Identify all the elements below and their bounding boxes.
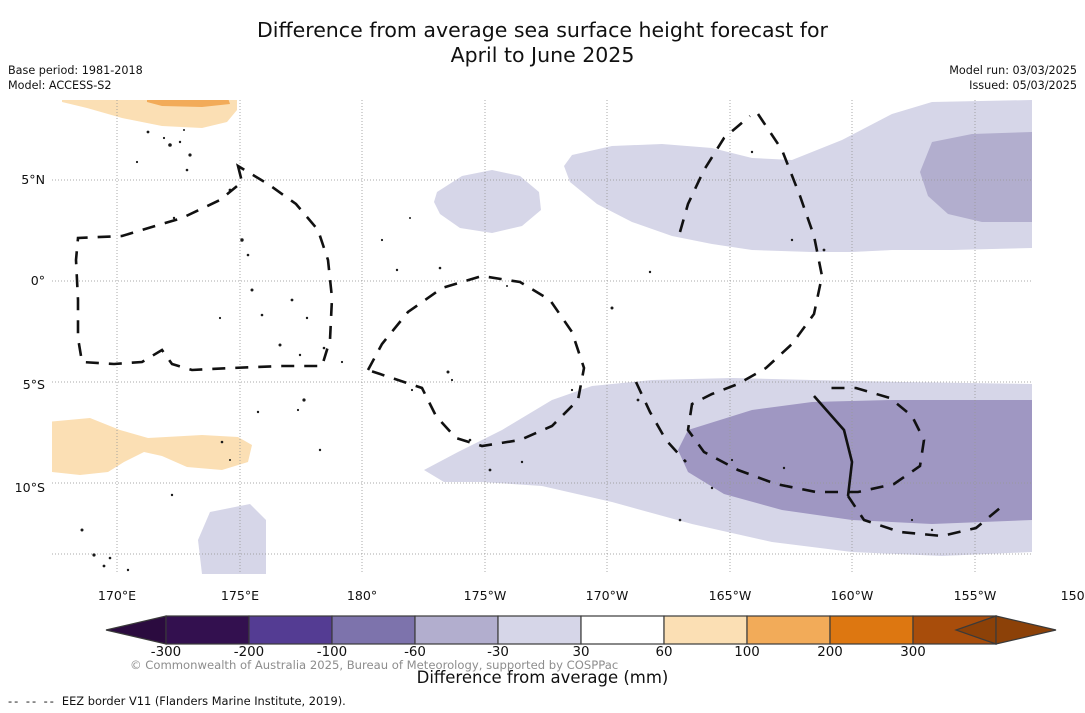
colorbar-tick--30: -30 xyxy=(487,645,509,660)
x-tick-165W: 165°W xyxy=(709,588,752,603)
y-tick-0: 0° xyxy=(0,273,45,288)
issued-label: Issued: 05/03/2025 xyxy=(949,78,1077,93)
colorbar-tick--200: -200 xyxy=(234,645,264,660)
colorbar-band-0 xyxy=(166,616,249,644)
colorbar-ticks: -300 -200 -100 -60 -30 30 60 100 200 300 xyxy=(0,645,1085,665)
eez-legend: -- -- -- EEZ border V11 (Flanders Marine… xyxy=(8,694,346,708)
colorbar-band-6 xyxy=(664,616,747,644)
colorbar-band-7 xyxy=(747,616,830,644)
colorbar-band-5 xyxy=(581,616,664,644)
region-eq-blob xyxy=(434,170,541,233)
x-tick-150W: 150°W xyxy=(1061,588,1085,603)
x-tick-170E: 170°E xyxy=(98,588,136,603)
colorbar-band-8 xyxy=(830,616,913,644)
x-tick-175W: 175°W xyxy=(464,588,507,603)
colorbar-tick-60: 60 xyxy=(655,645,672,660)
eez-border-west xyxy=(76,166,332,370)
colorbar xyxy=(0,612,1085,648)
x-tick-160W: 160°W xyxy=(831,588,874,603)
model-label: Model: ACCESS-S2 xyxy=(8,78,143,93)
colorbar-band-4 xyxy=(498,616,581,644)
colorbar-band-3 xyxy=(415,616,498,644)
colorbar-under-arrow xyxy=(106,616,166,644)
y-tick-5S: 5°S xyxy=(0,377,45,392)
map-svg xyxy=(52,100,1032,574)
colorbar-tick--300: -300 xyxy=(151,645,181,660)
y-tick-10S: 10°S xyxy=(0,480,45,495)
y-tick-5N: 5°N xyxy=(0,172,45,187)
base-period-label: Base period: 1981-2018 xyxy=(8,63,143,78)
map-panel: © Commonwealth of Australia 2025, Bureau… xyxy=(52,100,1032,574)
x-tick-175E: 175°E xyxy=(221,588,259,603)
colorbar-title: Difference from average (mm) xyxy=(0,668,1085,687)
colorbar-svg xyxy=(0,612,1085,648)
colorbar-tick-30: 30 xyxy=(572,645,589,660)
region-sw-small-blob xyxy=(198,504,266,574)
meta-left: Base period: 1981-2018 Model: ACCESS-S2 xyxy=(8,63,143,93)
region-sw-positive xyxy=(52,418,252,475)
eez-legend-label: EEZ border V11 (Flanders Marine Institut… xyxy=(62,694,346,708)
x-tick-155W: 155°W xyxy=(954,588,997,603)
colorbar-tick-200: 200 xyxy=(817,645,843,660)
x-axis-labels: 170°E 175°E 180° 175°W 170°W 165°W 160°W… xyxy=(52,588,1032,606)
colorbar-tick--100: -100 xyxy=(317,645,347,660)
colorbar-over-arrow-tip xyxy=(996,616,1056,644)
colorbar-tick-300: 300 xyxy=(900,645,926,660)
colorbar-tick--60: -60 xyxy=(404,645,426,660)
x-tick-170W: 170°W xyxy=(586,588,629,603)
colorbar-band-2 xyxy=(332,616,415,644)
x-tick-180: 180° xyxy=(347,588,377,603)
anomaly-shading xyxy=(52,100,1032,574)
page-title: Difference from average sea surface heig… xyxy=(0,18,1085,68)
meta-right: Model run: 03/03/2025 Issued: 05/03/2025 xyxy=(949,63,1077,93)
map-canvas xyxy=(52,100,1032,574)
dashed-line-icon: -- -- -- xyxy=(8,694,56,708)
colorbar-tick-100: 100 xyxy=(734,645,760,660)
model-run-label: Model run: 03/03/2025 xyxy=(949,63,1077,78)
colorbar-band-1 xyxy=(249,616,332,644)
